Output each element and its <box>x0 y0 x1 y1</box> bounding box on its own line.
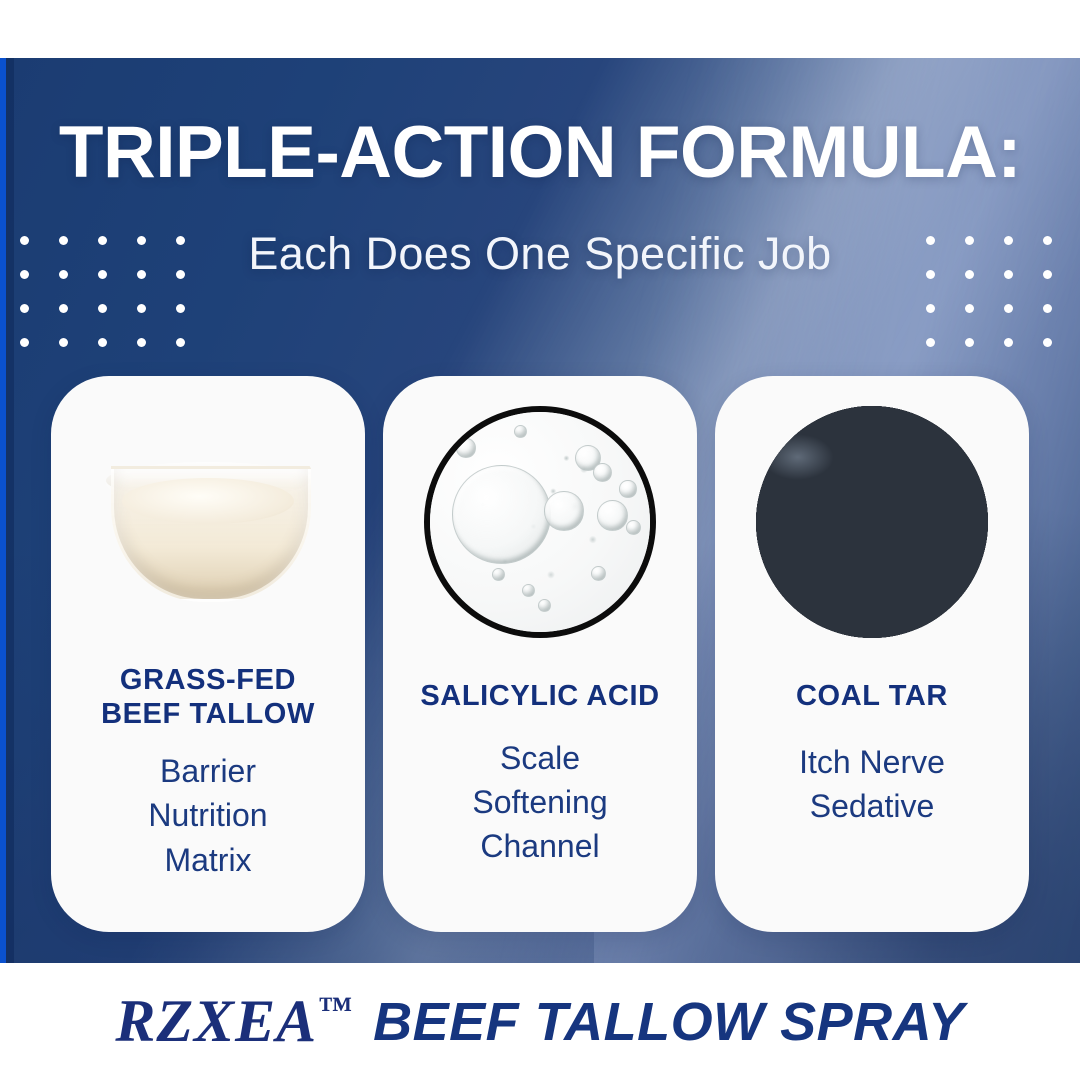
tallow-surface-shape <box>122 478 294 524</box>
beef-tallow-image <box>92 406 324 638</box>
card-desc-line-2: Sedative <box>810 788 935 824</box>
gel-bubble-small <box>591 566 606 581</box>
gel-bubble-medium <box>544 491 583 530</box>
card-title-line-2: BEEF TALLOW <box>101 698 315 730</box>
gel-bubble-small <box>538 599 551 612</box>
footer-bar: RZXEA™ BEEF TALLOW SPRAY <box>0 963 1080 1080</box>
decorative-dot <box>965 304 974 313</box>
decorative-dot <box>98 304 107 313</box>
decorative-dot <box>1004 338 1013 347</box>
decorative-dot <box>137 338 146 347</box>
card-desc-line-1: Barrier <box>160 753 256 789</box>
card-description: Barrier Nutrition Matrix <box>132 749 283 881</box>
card-desc-line-1: Scale <box>500 740 580 776</box>
decorative-dot <box>926 338 935 347</box>
beef-tallow-photo-art <box>92 406 324 638</box>
gel-bubble-medium <box>597 500 628 531</box>
decorative-dot <box>176 304 185 313</box>
coal-tar-photo-art <box>756 406 988 638</box>
decorative-dot <box>59 304 68 313</box>
card-title: COAL TAR <box>784 680 960 714</box>
decorative-dot <box>98 338 107 347</box>
infographic-poster: TRIPLE-ACTION FORMULA: Each Does One Spe… <box>0 0 1080 1080</box>
card-title-line-1: SALICYLIC ACID <box>420 680 659 712</box>
gel-bubble-large <box>452 465 551 564</box>
card-title: GRASS-FED BEEF TALLOW <box>89 664 327 731</box>
decorative-dot <box>176 338 185 347</box>
gel-bubble-small <box>626 520 641 535</box>
salicylic-gel-photo-art <box>430 412 650 632</box>
ingredient-card-salicylic-acid[interactable]: SALICYLIC ACID Scale Softening Channel <box>383 376 697 932</box>
product-name: BEEF TALLOW SPRAY <box>373 991 964 1053</box>
card-desc-line-3: Matrix <box>164 842 251 878</box>
page-title: TRIPLE-ACTION FORMULA: <box>0 116 1080 190</box>
decorative-dot <box>137 304 146 313</box>
card-description: Scale Softening Channel <box>456 736 623 868</box>
ingredient-card-coal-tar[interactable]: COAL TAR Itch Nerve Sedative <box>715 376 1029 932</box>
gel-bubble-small <box>619 480 636 497</box>
decorative-dot <box>59 338 68 347</box>
decorative-dot <box>926 304 935 313</box>
card-desc-line-1: Itch Nerve <box>799 744 945 780</box>
card-desc-line-3: Channel <box>480 828 599 864</box>
gel-bubble-small <box>514 425 527 438</box>
card-title-line-1: GRASS-FED <box>120 664 296 696</box>
gel-bubble-small <box>522 584 535 597</box>
card-title-line-1: COAL TAR <box>796 680 948 712</box>
coal-highlight-texture <box>756 406 988 638</box>
card-title: SALICYLIC ACID <box>408 680 671 714</box>
gel-bubble-small <box>492 568 505 581</box>
brand-name: RZXEA <box>115 988 317 1054</box>
decorative-dot <box>1043 304 1052 313</box>
card-desc-line-2: Nutrition <box>148 797 267 833</box>
card-description: Itch Nerve Sedative <box>783 740 961 828</box>
decorative-dot <box>20 304 29 313</box>
trademark-symbol: ™ <box>317 991 351 1028</box>
card-desc-line-2: Softening <box>472 784 607 820</box>
decorative-dot <box>965 338 974 347</box>
brand-logo: RZXEA™ <box>115 987 351 1056</box>
gel-bubble-small <box>456 438 476 458</box>
salicylic-acid-image <box>424 406 656 638</box>
coal-tar-image <box>756 406 988 638</box>
decorative-dot <box>1004 304 1013 313</box>
decorative-dot <box>20 338 29 347</box>
page-subtitle: Each Does One Specific Job <box>0 228 1080 280</box>
ingredient-card-grass-fed-beef-tallow[interactable]: GRASS-FED BEEF TALLOW Barrier Nutrition … <box>51 376 365 932</box>
decorative-dot <box>1043 338 1052 347</box>
ingredient-card-list: GRASS-FED BEEF TALLOW Barrier Nutrition … <box>0 376 1080 932</box>
